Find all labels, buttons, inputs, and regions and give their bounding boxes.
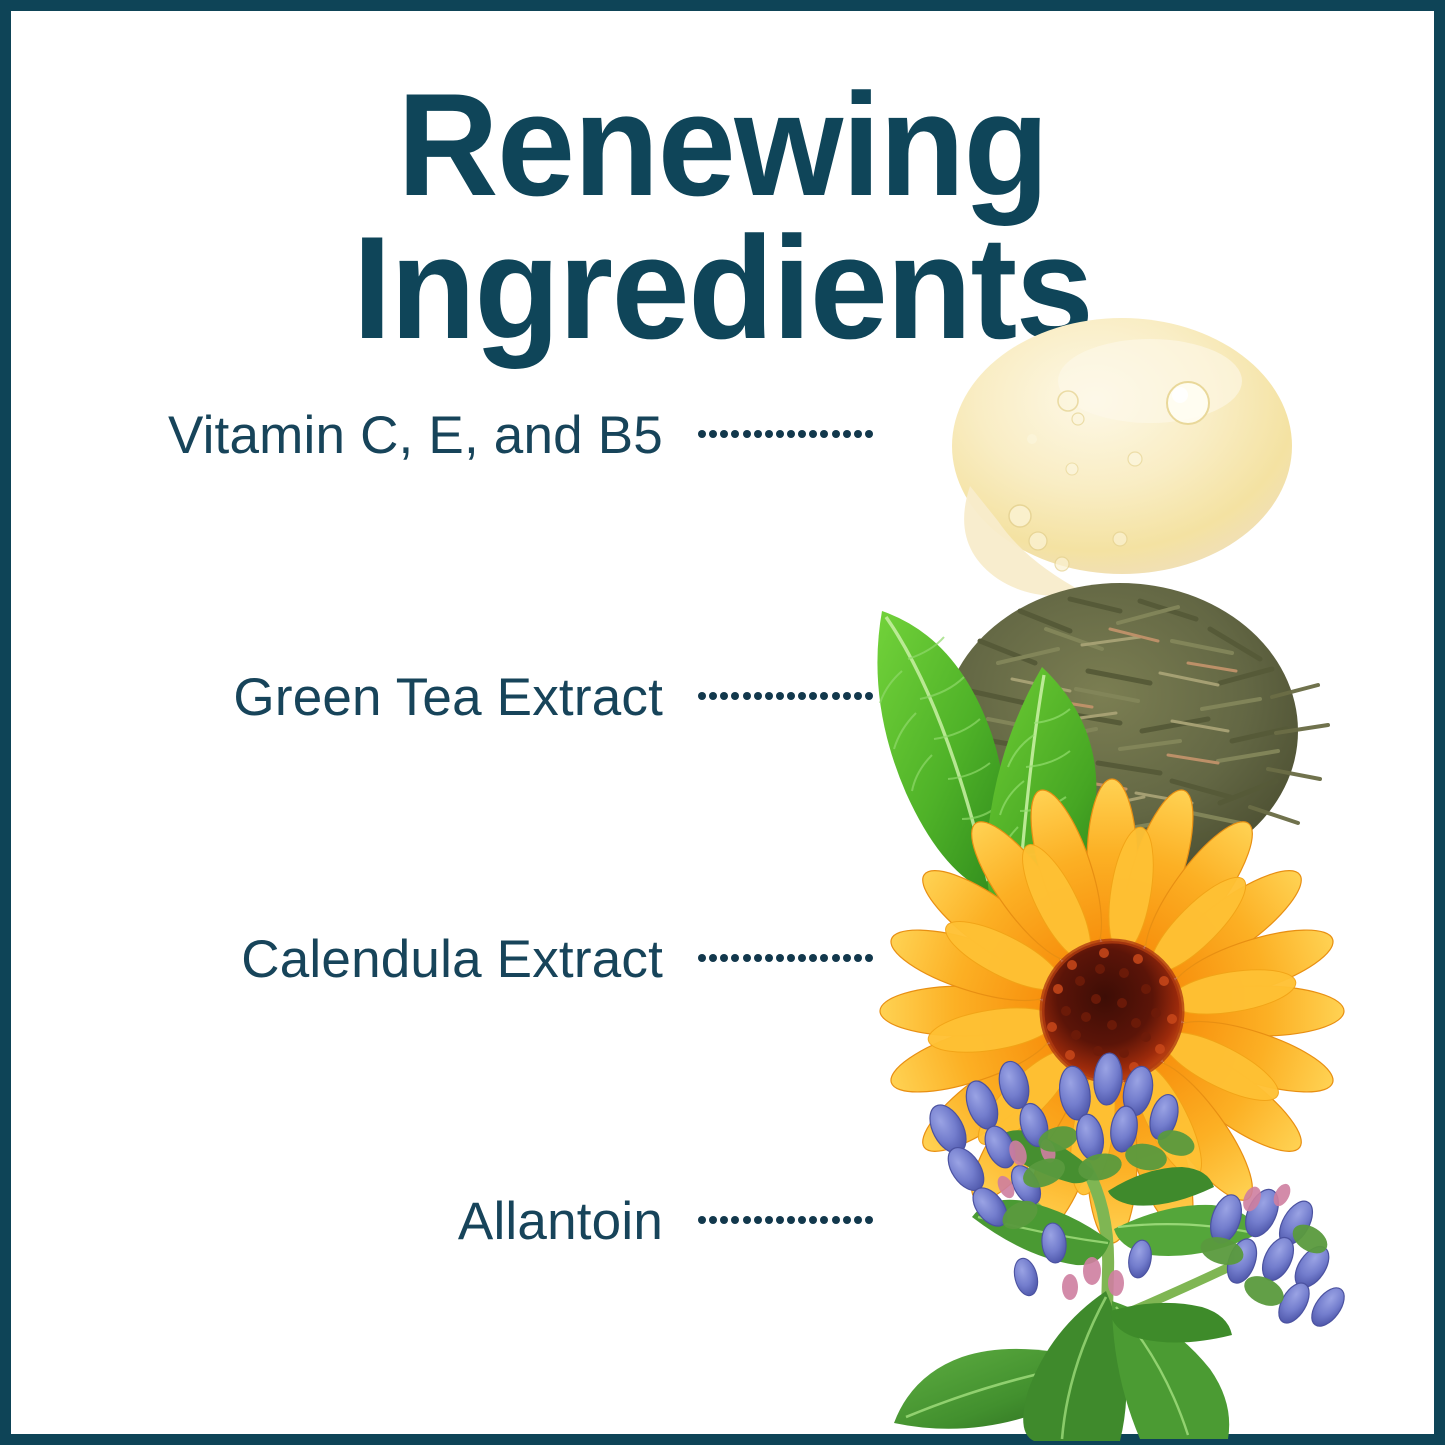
ingredient-row-allantoin: Allantoin bbox=[11, 1195, 891, 1445]
ingredient-row-calendula: Calendula Extract bbox=[11, 933, 891, 1195]
ingredient-label: Vitamin C, E, and B5 bbox=[63, 409, 663, 462]
ingredient-label: Green Tea Extract bbox=[63, 671, 663, 724]
ingredient-photo-collage bbox=[820, 311, 1420, 1441]
ingredient-infographic-card: Renewing Ingredients Vitamin C, E, and B… bbox=[0, 0, 1445, 1445]
page-title-line-1: Renewing bbox=[39, 73, 1405, 216]
ingredient-row-vitamins: Vitamin C, E, and B5 bbox=[11, 409, 891, 671]
ingredient-list: Vitamin C, E, and B5 Green Tea Extract C… bbox=[11, 409, 891, 1445]
serum-drop-image bbox=[952, 318, 1292, 596]
ingredient-row-green-tea: Green Tea Extract bbox=[11, 671, 891, 933]
ingredient-label: Calendula Extract bbox=[63, 933, 663, 986]
ingredient-label: Allantoin bbox=[63, 1195, 663, 1248]
